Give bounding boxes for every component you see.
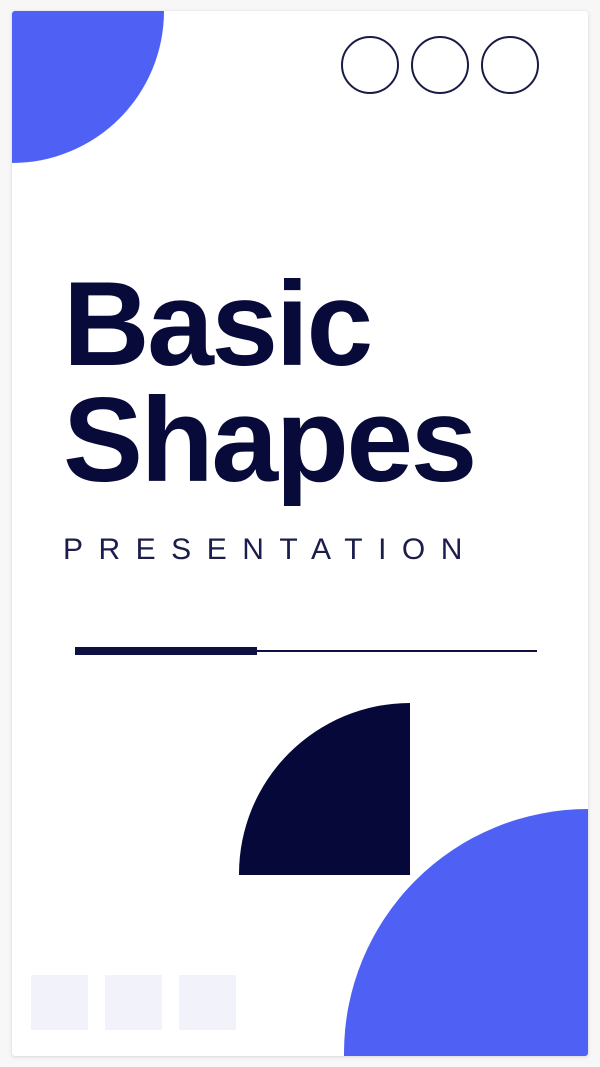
divider xyxy=(75,647,537,656)
pale-square-1-shape xyxy=(31,975,88,1030)
outline-circle-2-icon xyxy=(411,36,469,94)
outline-circle-1-icon xyxy=(341,36,399,94)
pale-square-row xyxy=(31,975,236,1030)
headline-block: Basic Shapes PRESENTATION xyxy=(63,266,583,567)
pale-square-3-shape xyxy=(179,975,236,1030)
divider-thick-segment xyxy=(75,647,257,655)
slide-canvas: Basic Shapes PRESENTATION xyxy=(0,0,600,1067)
slide-title-line-2: Shapes xyxy=(63,382,583,498)
outline-circle-3-icon xyxy=(481,36,539,94)
slide-title-line-1: Basic xyxy=(63,266,583,382)
slide-subtitle: PRESENTATION xyxy=(63,533,583,567)
quarter-circle-center-shape xyxy=(239,703,410,875)
outline-circle-row xyxy=(341,36,539,94)
pale-square-2-shape xyxy=(105,975,162,1030)
presentation-slide-card[interactable]: Basic Shapes PRESENTATION xyxy=(12,11,588,1056)
quarter-circle-top-left-shape xyxy=(12,11,164,163)
